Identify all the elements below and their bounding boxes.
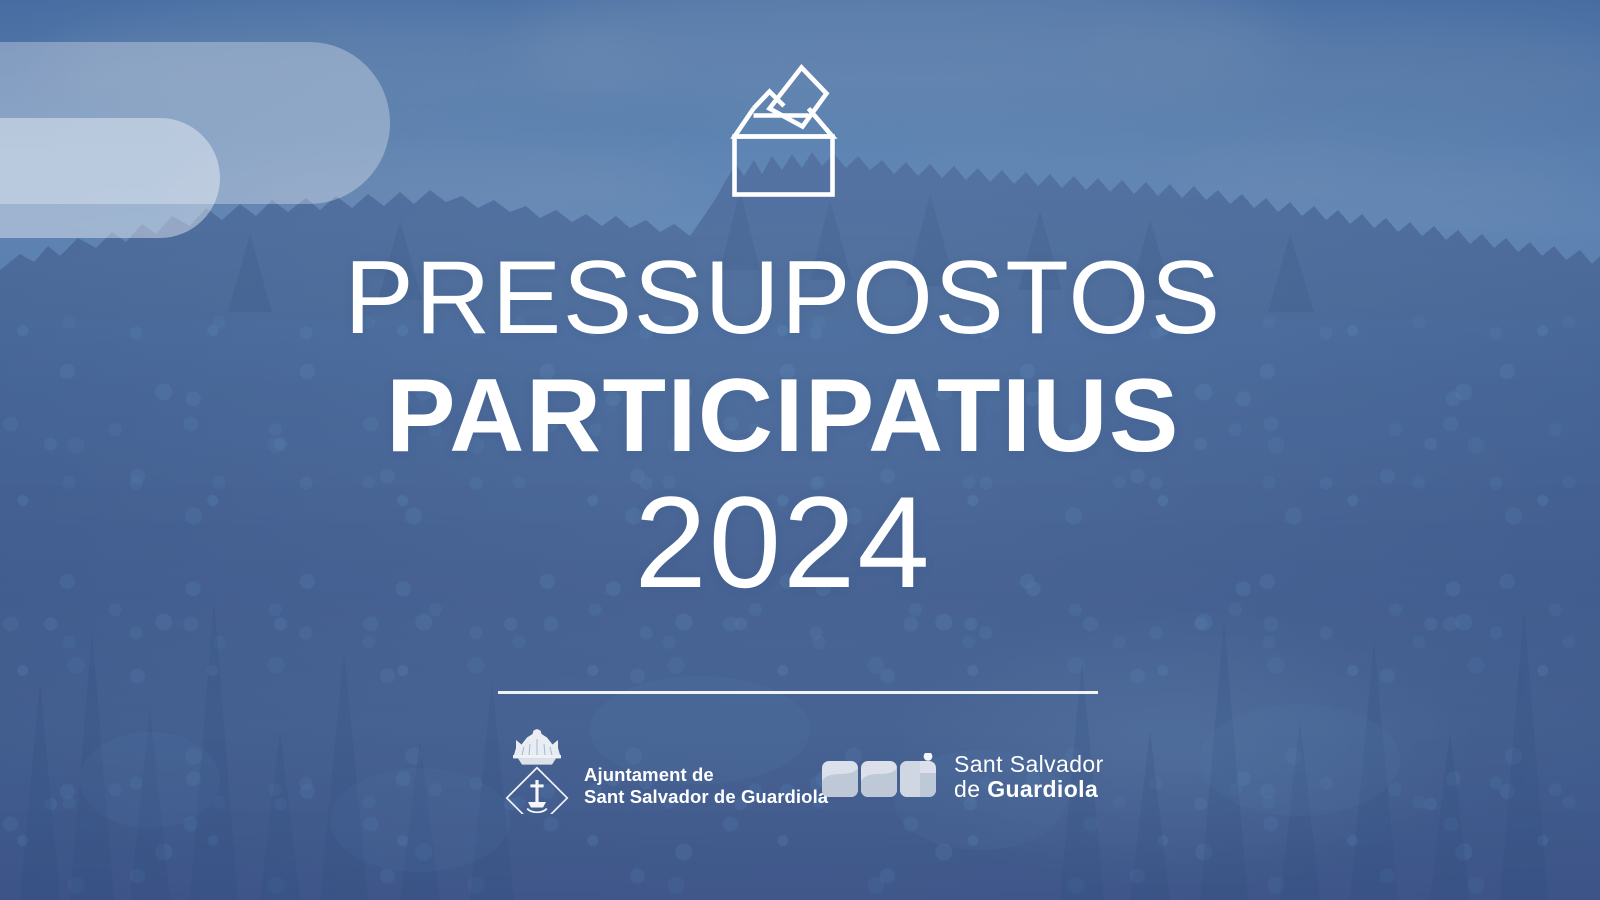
poster-content: PRESSUPOSTOS PARTICIPATIUS 2024 — [0, 0, 1600, 900]
ajuntament-logo-text: Ajuntament de Sant Salvador de Guardiola — [584, 764, 828, 814]
logo-row: Ajuntament de Sant Salvador de Guardiola — [0, 726, 1566, 826]
ajuntament-logo-lockup: Ajuntament de Sant Salvador de Guardiola — [502, 726, 828, 814]
ssg-logo-text: Sant Salvador de Guardiola — [954, 752, 1104, 802]
page-title-year: 2024 — [0, 474, 1566, 610]
ssg-logo-line-2-bold: Guardiola — [987, 776, 1098, 802]
poster-canvas: PRESSUPOSTOS PARTICIPATIUS 2024 — [0, 0, 1600, 900]
page-title-line-1: PRESSUPOSTOS — [0, 242, 1566, 354]
ssg-logo-lockup: Sant Salvador de Guardiola — [822, 752, 1104, 802]
crown-and-diamond-crest-icon — [502, 728, 572, 814]
poster-title-group: PRESSUPOSTOS PARTICIPATIUS 2024 — [0, 242, 1566, 610]
page-title-line-2: PARTICIPATIUS — [0, 360, 1566, 472]
ajuntament-logo-line-1: Ajuntament de — [584, 764, 828, 786]
ssg-logo-line-2-light: de — [954, 776, 987, 802]
ssg-logo-line-2: de Guardiola — [954, 777, 1104, 802]
ssg-monogram-icon — [822, 753, 940, 801]
ssg-logo-line-1: Sant Salvador — [954, 752, 1104, 777]
ballot-box-icon — [722, 62, 844, 200]
ajuntament-logo-line-2: Sant Salvador de Guardiola — [584, 786, 828, 808]
horizontal-divider — [498, 691, 1098, 694]
